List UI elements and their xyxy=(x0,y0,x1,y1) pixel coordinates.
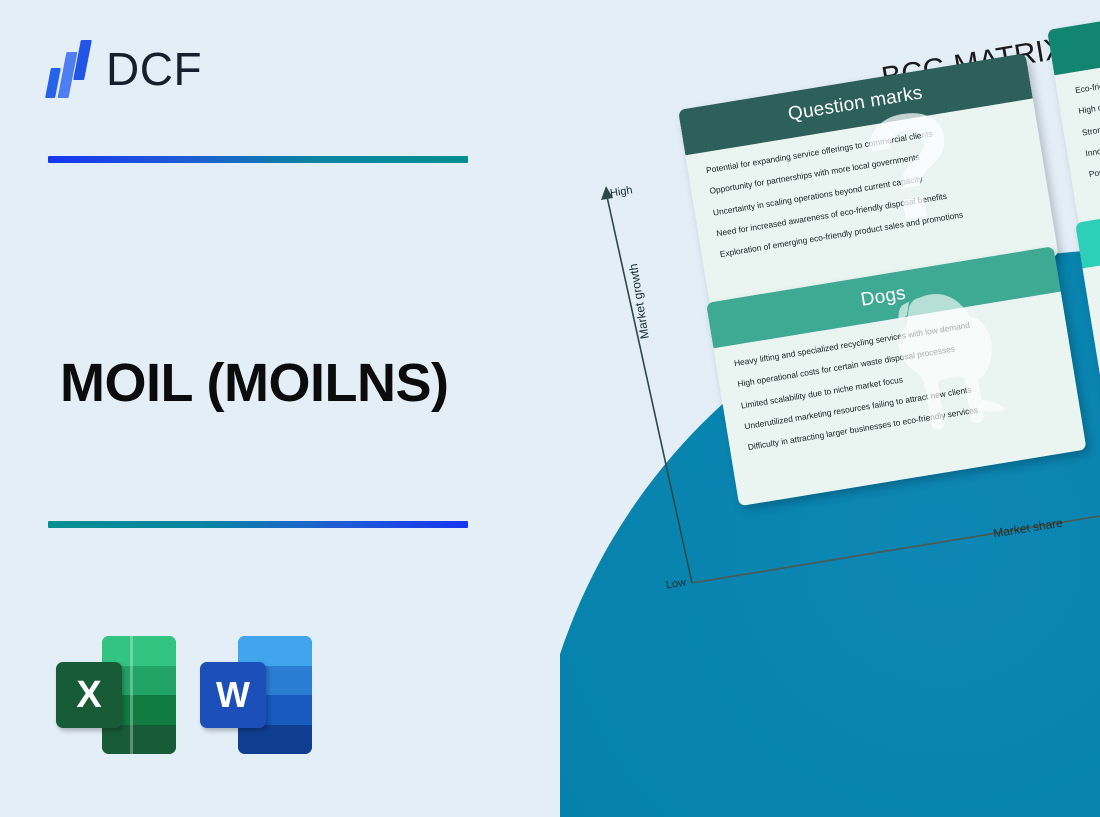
word-tab-graphic: W xyxy=(200,662,266,728)
brand-name: DCF xyxy=(106,42,202,96)
brand-logo: DCF xyxy=(48,40,202,98)
dcf-bars-logo-icon xyxy=(48,40,92,98)
word-file-icon[interactable]: W xyxy=(200,636,320,754)
bcg-matrix-panel: BCG MATRIX High Low Market growth Market… xyxy=(560,0,1100,817)
excel-glyph: X xyxy=(56,662,122,728)
divider-top xyxy=(48,156,468,163)
page-title: MOIL (MOILNS) xyxy=(60,352,448,414)
excel-file-icon[interactable]: X xyxy=(56,636,176,754)
quadrant-dogs-title: Dogs xyxy=(859,283,907,312)
left-panel: DCF MOIL (MOILNS) X W xyxy=(0,0,560,817)
excel-tab-graphic: X xyxy=(56,662,122,728)
word-glyph: W xyxy=(200,662,266,728)
divider-bottom xyxy=(48,521,468,528)
file-format-icons: X W xyxy=(56,636,320,754)
